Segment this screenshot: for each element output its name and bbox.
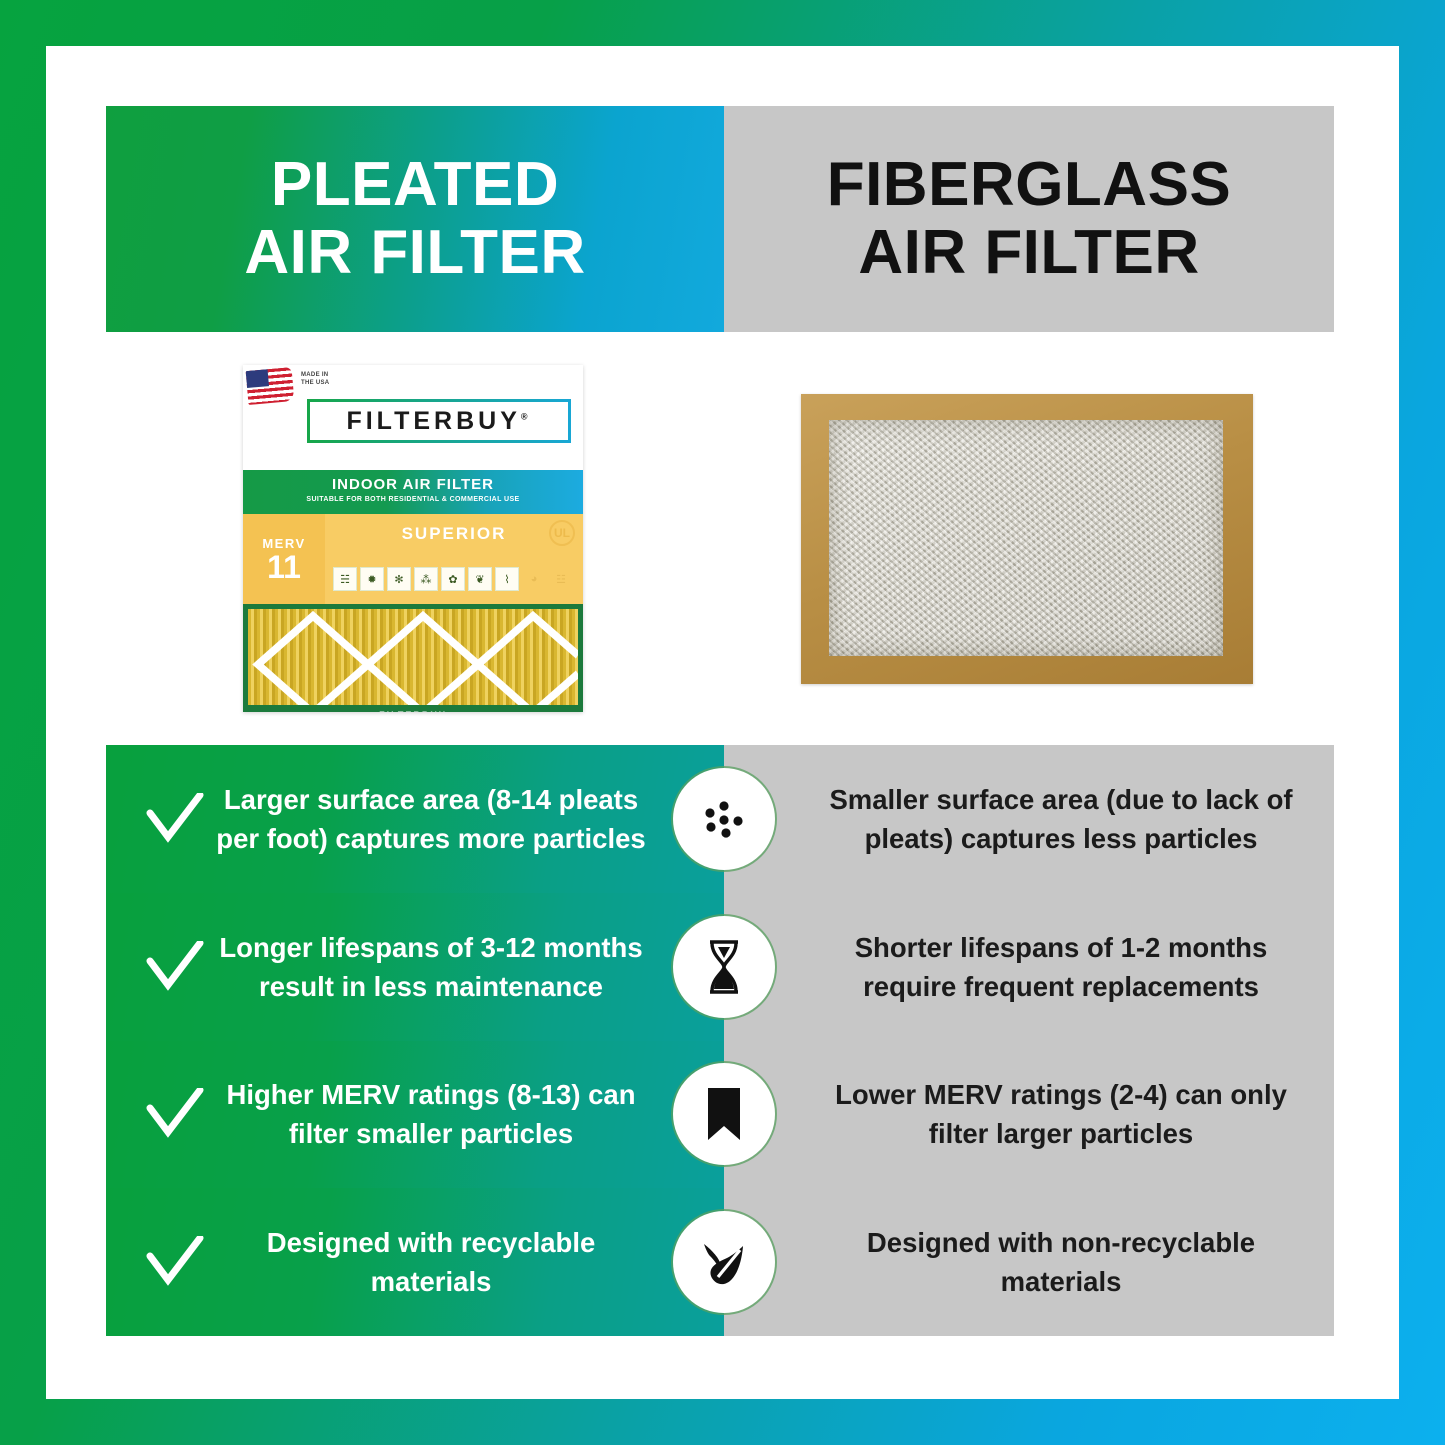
brand-logo-text: FILTERBUY®	[346, 407, 531, 436]
ul-seal-icon: UL	[549, 520, 575, 546]
allergen-icon: ☳	[549, 567, 573, 591]
row-left-pleated: Designed with recyclable materials	[106, 1188, 724, 1336]
merv-badge: MERV 11	[243, 514, 325, 604]
leaf-icon	[676, 1214, 772, 1310]
product-image-row: MADE IN THE USA FILTERBUY® INDOOR AIR FI…	[106, 332, 1334, 745]
package-top-panel: MADE IN THE USA FILTERBUY®	[243, 365, 583, 470]
product-cell-fiberglass	[720, 332, 1334, 745]
row-left-pleated: Higher MERV ratings (8-13) can filter sm…	[106, 1041, 724, 1189]
brand-logo-frame: FILTERBUY®	[307, 399, 571, 443]
particles-icon	[676, 771, 772, 867]
tier-label: SUPERIOR	[402, 524, 507, 544]
row-right-text: Smaller surface area (due to lack of ple…	[816, 780, 1306, 858]
header-fiberglass-line1: FIBERGLASS	[827, 151, 1232, 219]
made-in-usa-label: MADE IN THE USA	[301, 371, 329, 387]
comparison-board: PLEATED AIR FILTER FIBERGLASS AIR FILTER	[106, 106, 1334, 1336]
header-pleated-line1: PLEATED	[244, 151, 585, 219]
row-left-pleated: Longer lifespans of 3-12 months result i…	[106, 893, 724, 1041]
row-right-fiberglass: Designed with non-recyclable materials	[724, 1188, 1334, 1336]
dust-icon: ☵	[333, 567, 357, 591]
header-pleated-line2: AIR FILTER	[244, 219, 585, 287]
check-icon	[106, 793, 214, 845]
made-in-line2: THE USA	[301, 379, 329, 387]
check-icon	[106, 941, 214, 993]
tier-row: SUPERIOR UL	[325, 514, 583, 554]
header-fiberglass-line2: AIR FILTER	[827, 219, 1232, 287]
brand-name: FILTERBUY	[346, 407, 520, 435]
smoke-icon: ⌇	[495, 567, 519, 591]
product-cell-pleated: MADE IN THE USA FILTERBUY® INDOOR AIR FI…	[106, 332, 720, 745]
pet-dander-icon: ❦	[468, 567, 492, 591]
header-pleated: PLEATED AIR FILTER	[106, 106, 724, 332]
package-band-subtitle: SUITABLE FOR BOTH RESIDENTIAL & COMMERCI…	[243, 496, 583, 503]
fiberglass-filter-product-image	[801, 394, 1253, 684]
mold-spores-icon: ⁂	[414, 567, 438, 591]
insect-icon: ✹	[360, 567, 384, 591]
row-right-text: Lower MERV ratings (2-4) can only filter…	[816, 1075, 1306, 1153]
header-row: PLEATED AIR FILTER FIBERGLASS AIR FILTER	[106, 106, 1334, 332]
feature-icon-row: ☵ ✹ ✻ ⁂ ✿ ❦ ⌇ ◕ ☳	[325, 554, 583, 604]
header-fiberglass: FIBERGLASS AIR FILTER	[724, 106, 1334, 332]
diamond-support-grid	[248, 609, 578, 712]
row-left-text: Designed with recyclable materials	[214, 1223, 724, 1301]
header-fiberglass-title: FIBERGLASS AIR FILTER	[827, 151, 1232, 287]
fiberglass-mesh-media	[829, 420, 1223, 656]
comparison-rows: Larger surface area (8-14 pleats per foo…	[106, 745, 1334, 1336]
package-pleat-window: FILTERBUY	[243, 604, 583, 712]
bookmark-icon	[676, 1066, 772, 1162]
row-left-text: Longer lifespans of 3-12 months result i…	[214, 928, 724, 1006]
odor-icon: ◕	[522, 567, 546, 591]
usa-flag-icon	[246, 367, 295, 405]
row-left-text: Larger surface area (8-14 pleats per foo…	[214, 780, 724, 858]
package-footer-brand: FILTERBUY	[243, 705, 583, 712]
row-right-fiberglass: Smaller surface area (due to lack of ple…	[724, 745, 1334, 893]
comparison-row: Longer lifespans of 3-12 months result i…	[106, 893, 1334, 1041]
row-left-text: Higher MERV ratings (8-13) can filter sm…	[214, 1075, 724, 1153]
row-right-text: Designed with non-recyclable materials	[816, 1223, 1306, 1301]
header-pleated-title: PLEATED AIR FILTER	[244, 151, 585, 287]
package-indoor-band: INDOOR AIR FILTER SUITABLE FOR BOTH RESI…	[243, 470, 583, 514]
comparison-row: Larger surface area (8-14 pleats per foo…	[106, 745, 1334, 893]
pleated-filter-product-image: MADE IN THE USA FILTERBUY® INDOOR AIR FI…	[243, 365, 583, 712]
pollen-icon: ✻	[387, 567, 411, 591]
row-right-text: Shorter lifespans of 1-2 months require …	[816, 928, 1306, 1006]
check-icon	[106, 1236, 214, 1288]
merv-value: 11	[267, 551, 301, 583]
comparison-row: Designed with recyclable materials Desig…	[106, 1188, 1334, 1336]
package-merv-panel: MERV 11 SUPERIOR UL ☵ ✹ ✻	[243, 514, 583, 604]
hourglass-icon	[676, 919, 772, 1015]
package-tier-column: SUPERIOR UL ☵ ✹ ✻ ⁂ ✿ ❦ ⌇	[325, 514, 583, 604]
bacteria-icon: ✿	[441, 567, 465, 591]
row-right-fiberglass: Shorter lifespans of 1-2 months require …	[724, 893, 1334, 1041]
brand-trademark: ®	[521, 411, 532, 421]
pleat-media	[248, 609, 578, 712]
made-in-line1: MADE IN	[301, 371, 329, 379]
row-right-fiberglass: Lower MERV ratings (2-4) can only filter…	[724, 1041, 1334, 1189]
row-left-pleated: Larger surface area (8-14 pleats per foo…	[106, 745, 724, 893]
comparison-row: Higher MERV ratings (8-13) can filter sm…	[106, 1041, 1334, 1189]
check-icon	[106, 1088, 214, 1140]
package-band-title: INDOOR AIR FILTER	[243, 476, 583, 493]
comparison-infographic: PLEATED AIR FILTER FIBERGLASS AIR FILTER	[0, 0, 1445, 1445]
